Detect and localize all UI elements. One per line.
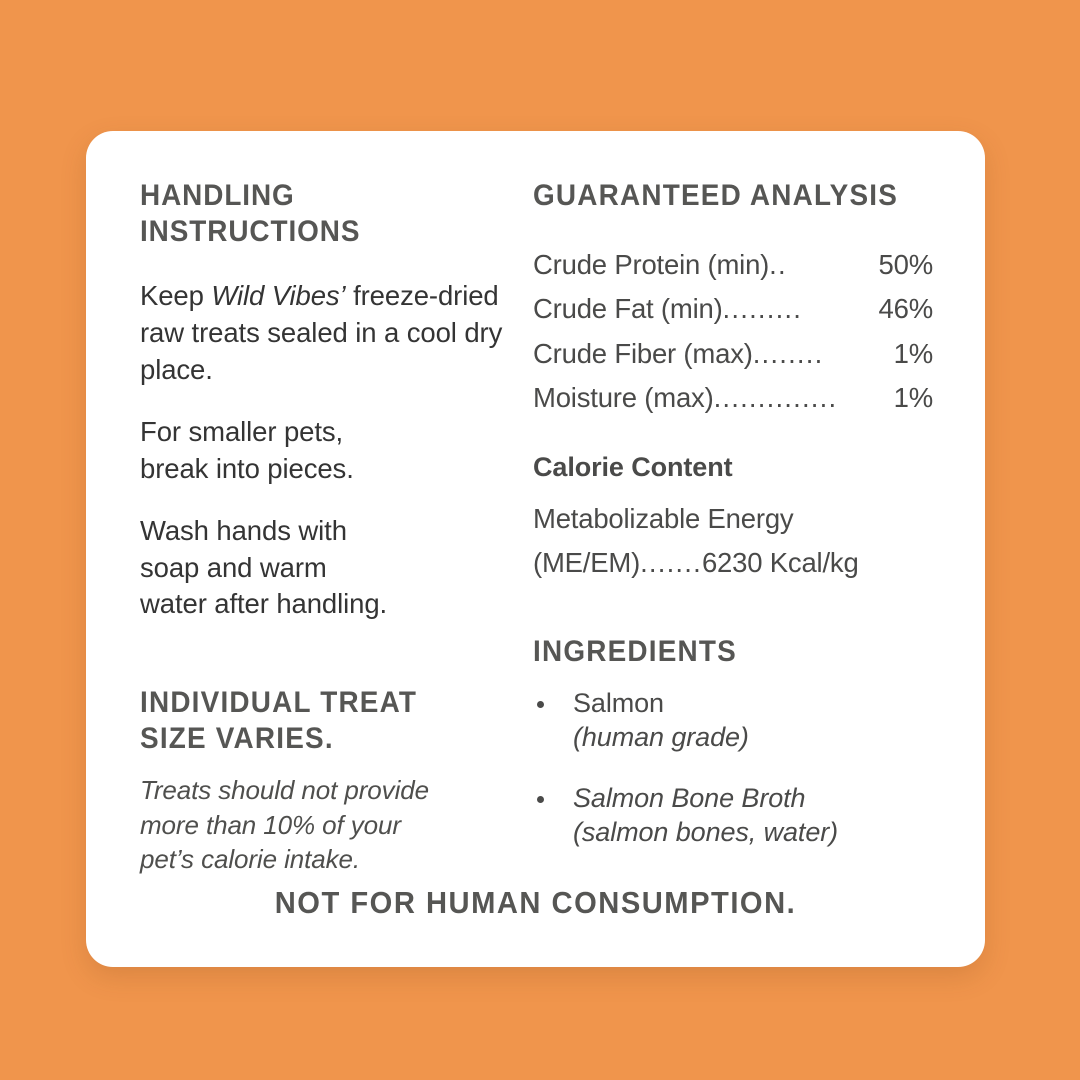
calorie-content-heading: Calorie Content (533, 452, 933, 483)
treat-size-note: Treats should not provide more than 10% … (140, 773, 510, 876)
treat-size-section: INDIVIDUAL TREAT SIZE VARIES. Treats sho… (140, 685, 510, 876)
analysis-row-moisture: Moisture (max) .............. 1% (533, 376, 933, 421)
calorie-content-label: (ME/EM) (533, 547, 640, 578)
handling-instructions-section: HANDLING INSTRUCTIONS Keep Wild Vibes’ f… (140, 178, 510, 623)
handling-paragraph-wash-hands: Wash hands with soap and warm water afte… (140, 513, 510, 623)
label-canvas: HANDLING INSTRUCTIONS Keep Wild Vibes’ f… (0, 0, 1080, 1080)
calorie-content-leader-dots: ....... (640, 547, 702, 578)
analysis-leader-dots: ......... (723, 287, 803, 332)
bullet-icon (537, 701, 544, 708)
calorie-content-line-1: Metabolizable Energy (533, 497, 933, 542)
analysis-label: Crude Protein (min) (533, 243, 769, 288)
ingredient-item-salmon-bone-broth: Salmon Bone Broth (salmon bones, water) (533, 781, 933, 850)
ingredients-list: Salmon (human grade) Salmon Bone Broth (… (533, 686, 933, 850)
bullet-icon (537, 796, 544, 803)
analysis-value: 46% (878, 287, 933, 332)
treat-size-heading: INDIVIDUAL TREAT SIZE VARIES. (140, 685, 484, 756)
ingredient-name: Salmon Bone Broth (573, 781, 933, 816)
ingredient-detail: (salmon bones, water) (573, 815, 933, 850)
analysis-value: 50% (878, 243, 933, 288)
calorie-content-value: 6230 Kcal/kg (702, 547, 859, 578)
handling-paragraph-smaller-pets: For smaller pets, break into pieces. (140, 414, 510, 487)
calorie-content-line-2: (ME/EM).......6230 Kcal/kg (533, 541, 933, 586)
ingredient-detail: (human grade) (573, 720, 933, 755)
nutrition-label-card: HANDLING INSTRUCTIONS Keep Wild Vibes’ f… (86, 131, 985, 967)
guaranteed-analysis-list: Crude Protein (min) .. 50% Crude Fat (mi… (533, 243, 933, 421)
analysis-leader-dots: ........ (753, 332, 824, 377)
card-content: HANDLING INSTRUCTIONS Keep Wild Vibes’ f… (86, 131, 985, 967)
analysis-row-crude-fat: Crude Fat (min) ......... 46% (533, 287, 933, 332)
analysis-label: Crude Fat (min) (533, 287, 723, 332)
guaranteed-analysis-section: GUARANTEED ANALYSIS Crude Protein (min) … (533, 178, 933, 421)
calorie-content-section: Calorie Content Metabolizable Energy (ME… (533, 452, 933, 586)
analysis-label: Crude Fiber (max) (533, 332, 753, 377)
human-consumption-warning: NOT FOR HUMAN CONSUMPTION. (113, 885, 958, 921)
handling-instructions-heading: HANDLING INSTRUCTIONS (140, 178, 484, 249)
analysis-leader-dots: .. (769, 243, 787, 288)
brand-name-wild-vibes: Wild Vibes’ (211, 280, 345, 311)
ingredients-heading: INGREDIENTS (533, 634, 905, 670)
guaranteed-analysis-heading: GUARANTEED ANALYSIS (533, 178, 905, 214)
analysis-row-crude-protein: Crude Protein (min) .. 50% (533, 243, 933, 288)
handling-storage-text-before: Keep (140, 280, 211, 311)
right-column: GUARANTEED ANALYSIS Crude Protein (min) … (533, 178, 933, 850)
ingredient-name: Salmon (573, 686, 933, 721)
analysis-row-crude-fiber: Crude Fiber (max) ........ 1% (533, 332, 933, 377)
ingredient-item-salmon: Salmon (human grade) (533, 686, 933, 755)
analysis-leader-dots: .............. (714, 376, 838, 421)
analysis-value: 1% (893, 376, 933, 421)
ingredients-section: INGREDIENTS Salmon (human grade) Salmon … (533, 634, 933, 850)
handling-paragraph-storage: Keep Wild Vibes’ freeze-dried raw treats… (140, 278, 510, 388)
left-column: HANDLING INSTRUCTIONS Keep Wild Vibes’ f… (140, 178, 510, 876)
analysis-value: 1% (893, 332, 933, 377)
analysis-label: Moisture (max) (533, 376, 714, 421)
